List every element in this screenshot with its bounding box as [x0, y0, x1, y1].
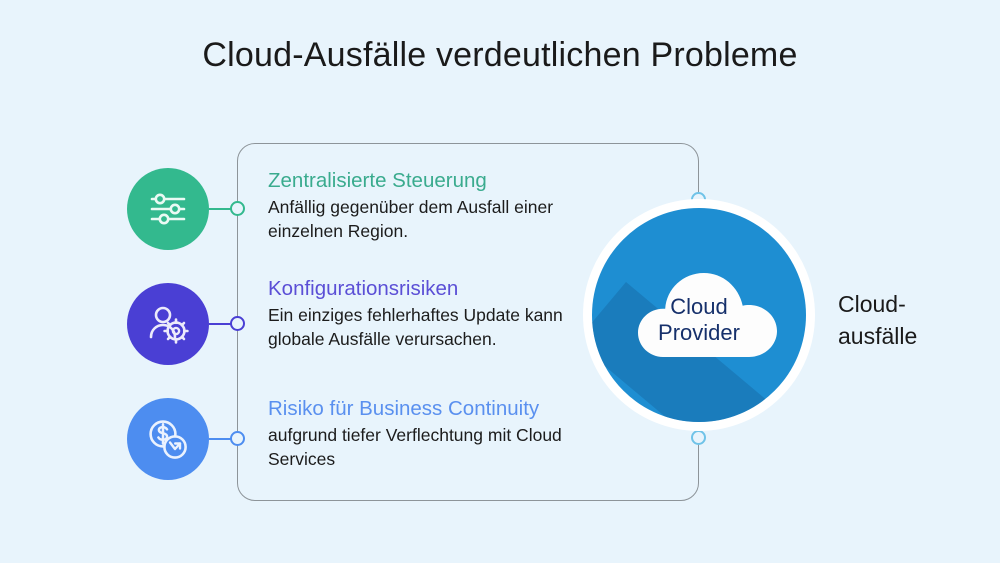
cloud-provider-graphic: Cloud Provider	[583, 199, 815, 431]
cloud-label: Cloud Provider	[621, 294, 777, 346]
item-config: Konfigurationsrisiken Ein einziges fehle…	[268, 276, 598, 351]
item-governance: Zentralisierte Steuerung Anfällig gegenü…	[268, 168, 598, 243]
node-circle-bottom	[691, 430, 706, 445]
cloud-disc: Cloud Provider	[592, 208, 806, 422]
infographic-slide: Cloud-Ausfälle verdeutlichen Probleme Ze…	[0, 0, 1000, 563]
outcome-line1: Cloud-	[838, 288, 917, 320]
outcome-label: Cloud- ausfälle	[838, 288, 917, 352]
node-config	[230, 316, 245, 331]
coin-decline-icon	[127, 398, 209, 480]
user-gear-icon	[127, 283, 209, 365]
item-heading-governance: Zentralisierte Steuerung	[268, 168, 598, 194]
cloud-label-line1: Cloud	[621, 294, 777, 320]
sliders-icon	[127, 168, 209, 250]
item-heading-financial: Risiko für Business Continuity	[268, 396, 598, 422]
node-financial	[230, 431, 245, 446]
cloud-icon: Cloud Provider	[621, 271, 777, 359]
item-body-governance: Anfällig gegenüber dem Ausfall einer ein…	[268, 195, 598, 243]
item-body-config: Ein einziges fehlerhaftes Update kann gl…	[268, 303, 598, 351]
node-governance	[230, 201, 245, 216]
page-title: Cloud-Ausfälle verdeutlichen Probleme	[0, 36, 1000, 75]
item-body-financial: aufgrund tiefer Verflechtung mit Cloud S…	[268, 423, 598, 471]
item-heading-config: Konfigurationsrisiken	[268, 276, 598, 302]
cloud-label-line2: Provider	[621, 320, 777, 346]
item-financial: Risiko für Business Continuity aufgrund …	[268, 396, 598, 471]
outcome-line2: ausfälle	[838, 320, 917, 352]
